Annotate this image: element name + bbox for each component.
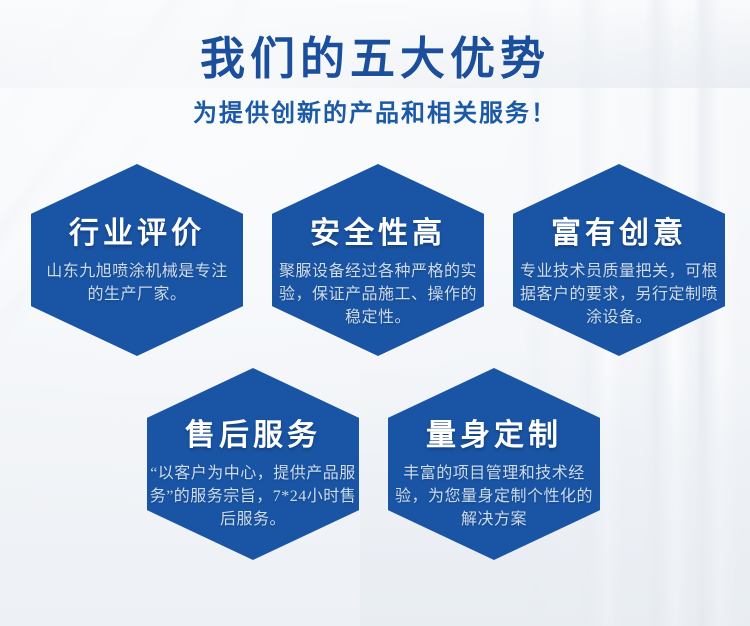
advantage-card-creative[interactable]: 富有创意 专业技术员质量把关，可根据客户的要求，另行定制喷涂设备。: [513, 164, 725, 356]
advantage-card-high-safety[interactable]: 安全性高 聚脲设备经过各种严格的实验，保证产品施工、操作的稳定性。: [272, 164, 484, 356]
advantage-title: 量身定制: [426, 410, 562, 454]
header-block: 我们的五大优势 为提供创新的产品和相关服务！: [0, 36, 750, 128]
advantage-title: 售后服务: [185, 410, 321, 454]
advantage-title: 富有创意: [551, 208, 687, 252]
page-title: 我们的五大优势: [0, 36, 750, 83]
page-subtitle: 为提供创新的产品和相关服务！: [0, 93, 750, 128]
advantage-title: 安全性高: [310, 208, 446, 252]
advantage-body: “以客户为中心，提供产品服务”的服务宗旨，7*24小时售后服务。: [144, 462, 362, 532]
advantage-card-industry-reputation[interactable]: 行业评价 山东九旭喷涂机械是专注的生产厂家。: [31, 164, 243, 356]
advantage-body: 聚脲设备经过各种严格的实验，保证产品施工、操作的稳定性。: [271, 260, 485, 330]
promo-banner: 我们的五大优势 为提供创新的产品和相关服务！ 行业评价 山东九旭喷涂机械是专注的…: [0, 0, 750, 626]
advantage-title: 行业评价: [69, 208, 205, 252]
advantage-card-tailor-made[interactable]: 量身定制 丰富的项目管理和技术经验，为您量身定制个性化的解决方案: [388, 368, 600, 560]
advantage-body: 专业技术员质量把关，可根据客户的要求，另行定制喷涂设备。: [512, 260, 726, 330]
advantage-body: 丰富的项目管理和技术经验，为您量身定制个性化的解决方案: [385, 462, 603, 532]
advantage-card-after-sales-service[interactable]: 售后服务 “以客户为中心，提供产品服务”的服务宗旨，7*24小时售后服务。: [147, 368, 359, 560]
advantage-body: 山东九旭喷涂机械是专注的生产厂家。: [40, 260, 234, 306]
